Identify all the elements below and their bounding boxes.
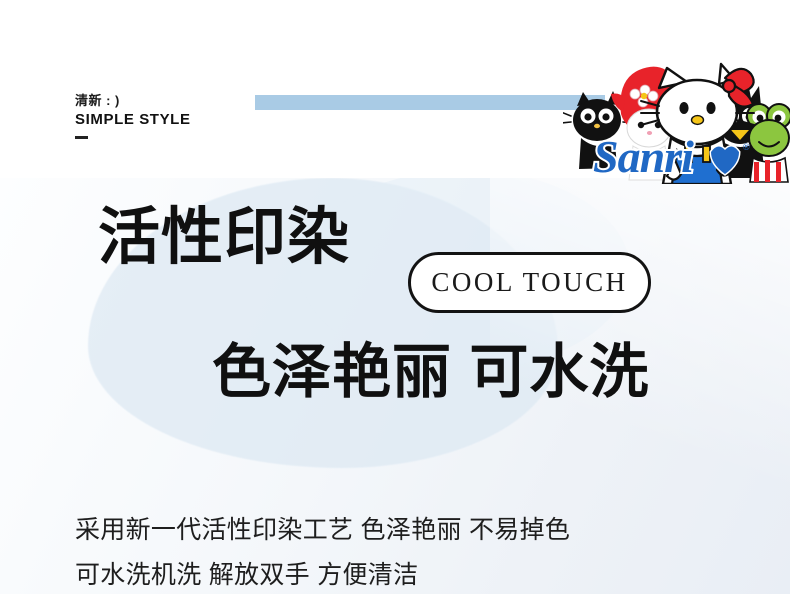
header-title-en: SIMPLE STYLE <box>75 109 191 130</box>
header-divider-dash <box>75 136 88 139</box>
headline-secondary: 色泽艳丽 可水洗 <box>212 336 649 408</box>
header-accent-bar <box>255 95 605 110</box>
body-copy-line-2: 可水洗机洗 解放双手 方便清洁 <box>75 553 570 594</box>
body-copy-line-1: 采用新一代活性印染工艺 色泽艳丽 不易掉色 <box>75 508 570 553</box>
svg-text:Sanri: Sanri <box>593 131 694 182</box>
promo-banner: 清新 : ) SIMPLE STYLE <box>0 0 790 594</box>
header-text-block: 清新 : ) SIMPLE STYLE <box>75 92 191 139</box>
header-kicker: 清新 : ) <box>75 92 191 109</box>
body-copy: 采用新一代活性印染工艺 色泽艳丽 不易掉色 可水洗机洗 解放双手 方便清洁 <box>75 508 570 594</box>
headline-primary: 活性印染 <box>98 203 350 273</box>
keroppi-icon <box>747 104 790 182</box>
svg-text:®: ® <box>743 142 750 152</box>
banner-header: 清新 : ) SIMPLE STYLE <box>0 0 790 178</box>
sanrio-logo: Sanri ® <box>563 54 790 184</box>
cool-touch-badge-label: COOL TOUCH <box>431 267 627 298</box>
cool-touch-badge: COOL TOUCH <box>408 252 651 313</box>
